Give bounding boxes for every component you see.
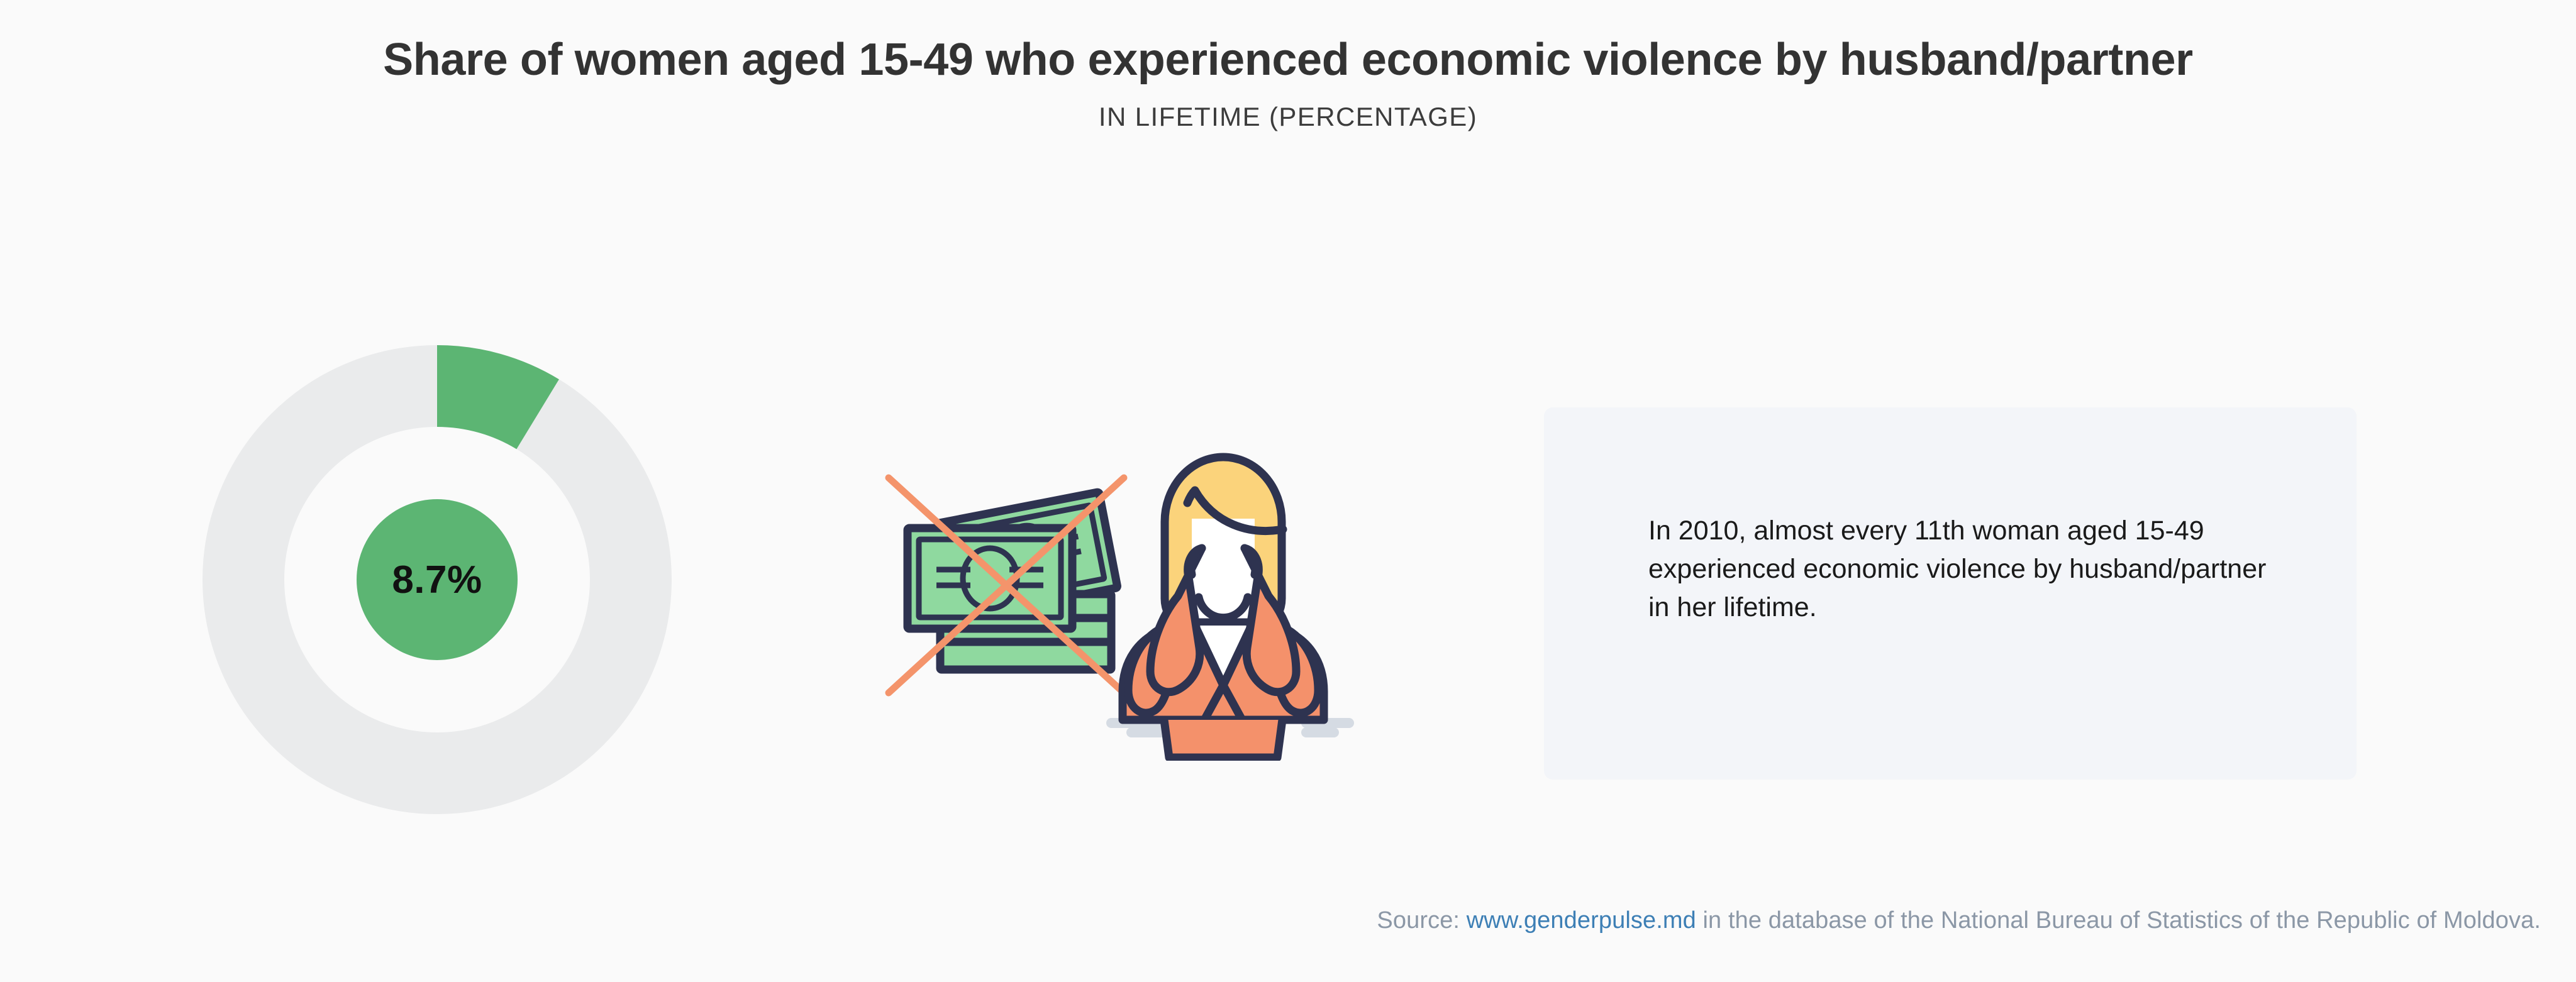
info-card-text: In 2010, almost every 11th woman aged 15… [1648, 512, 2277, 627]
header: Share of women aged 15-49 who experience… [0, 33, 2576, 132]
illustration [852, 409, 1362, 761]
source-prefix: Source: [1377, 907, 1466, 934]
source-footer: Source: www.genderpulse.md in the databa… [0, 907, 2576, 934]
donut-center-value: 8.7% [203, 345, 672, 814]
infographic-page: Share of women aged 15-49 who experience… [0, 0, 2576, 982]
donut-chart: 8.7% [203, 345, 672, 814]
woman-covering-face-icon [1123, 457, 1324, 758]
source-suffix: in the database of the National Bureau o… [1696, 907, 2541, 934]
page-subtitle: IN LIFETIME (PERCENTAGE) [0, 102, 2576, 132]
page-title: Share of women aged 15-49 who experience… [250, 33, 2326, 88]
illustration-svg [852, 409, 1362, 761]
info-card: In 2010, almost every 11th woman aged 15… [1544, 407, 2357, 780]
source-link[interactable]: www.genderpulse.md [1467, 907, 1696, 934]
